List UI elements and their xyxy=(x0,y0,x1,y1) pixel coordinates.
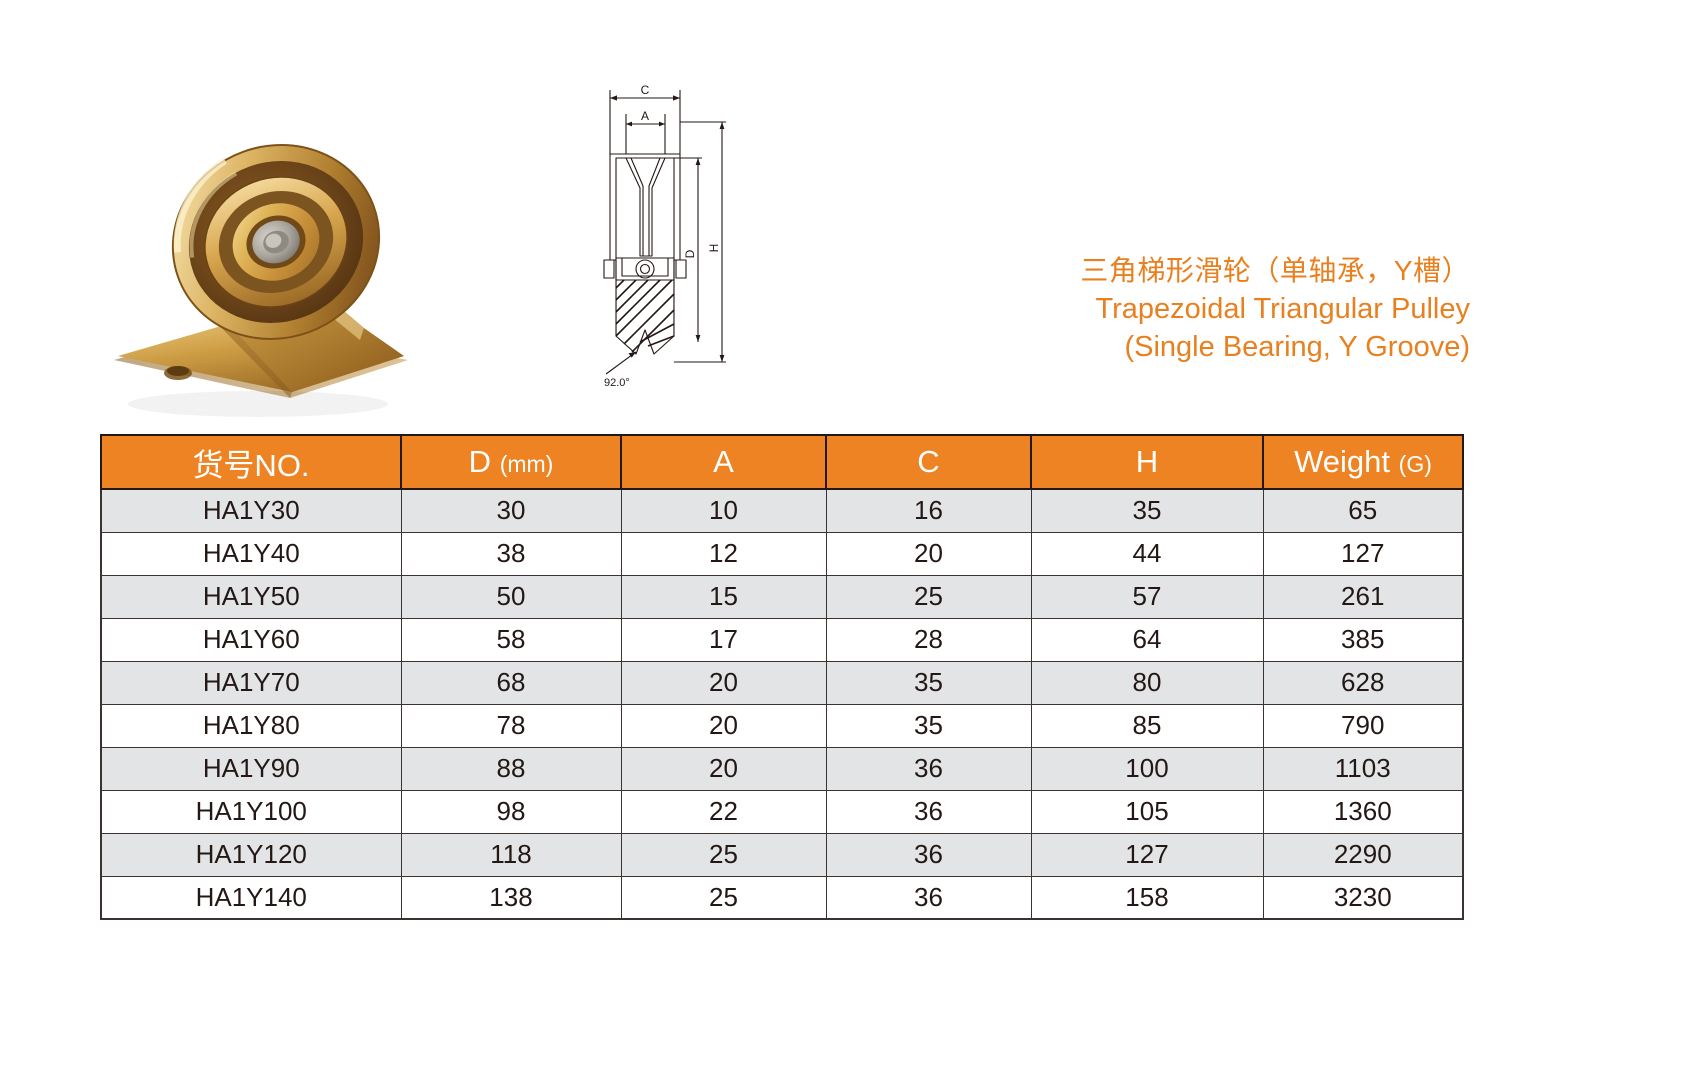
table-header-row: 货号NO. D (mm) A C H Weight (G) xyxy=(101,435,1463,489)
cell-dimension-h: 44 xyxy=(1031,532,1263,575)
cell-weight: 3230 xyxy=(1263,876,1463,919)
table-row: HA1Y14013825361583230 xyxy=(101,876,1463,919)
table-row: HA1Y6058172864385 xyxy=(101,618,1463,661)
cell-weight: 1360 xyxy=(1263,790,1463,833)
cell-dimension-h: 35 xyxy=(1031,489,1263,532)
cell-part-number: HA1Y120 xyxy=(101,833,401,876)
column-header-part-number: 货号NO. xyxy=(101,435,401,489)
cell-weight: 261 xyxy=(1263,575,1463,618)
column-header-unit: (G) xyxy=(1399,451,1432,477)
cell-dimension-a: 20 xyxy=(621,661,826,704)
table-header: 货号NO. D (mm) A C H Weight (G) xyxy=(101,435,1463,489)
specification-table-container: 货号NO. D (mm) A C H Weight (G) xyxy=(100,434,1462,920)
table-row: HA1Y4038122044127 xyxy=(101,532,1463,575)
table-body: HA1Y303010163565HA1Y4038122044127HA1Y505… xyxy=(101,489,1463,919)
cell-dimension-a: 25 xyxy=(621,833,826,876)
cell-part-number: HA1Y100 xyxy=(101,790,401,833)
cell-dimension-c: 36 xyxy=(826,876,1031,919)
cell-dimension-d: 38 xyxy=(401,532,621,575)
cell-part-number: HA1Y30 xyxy=(101,489,401,532)
product-title-english: Trapezoidal Triangular Pulley xyxy=(930,290,1470,328)
cell-part-number: HA1Y50 xyxy=(101,575,401,618)
cell-dimension-d: 78 xyxy=(401,704,621,747)
drawing-label-h: H xyxy=(707,244,721,253)
cell-dimension-d: 98 xyxy=(401,790,621,833)
cross-section-diagram: C A D H 92.0° xyxy=(570,62,770,402)
column-header-label: 货号NO. xyxy=(192,448,309,483)
cell-dimension-d: 88 xyxy=(401,747,621,790)
column-header-label: Weight xyxy=(1294,444,1390,479)
table-row: HA1Y8078203585790 xyxy=(101,704,1463,747)
column-header-label: H xyxy=(1136,444,1158,479)
column-header-weight: Weight (G) xyxy=(1263,435,1463,489)
cell-dimension-d: 68 xyxy=(401,661,621,704)
cell-weight: 2290 xyxy=(1263,833,1463,876)
cell-dimension-d: 50 xyxy=(401,575,621,618)
cell-dimension-h: 127 xyxy=(1031,833,1263,876)
cell-dimension-c: 35 xyxy=(826,704,1031,747)
cell-part-number: HA1Y70 xyxy=(101,661,401,704)
cell-dimension-d: 30 xyxy=(401,489,621,532)
cell-dimension-a: 20 xyxy=(621,704,826,747)
table-row: HA1Y7068203580628 xyxy=(101,661,1463,704)
cell-part-number: HA1Y60 xyxy=(101,618,401,661)
specification-table: 货号NO. D (mm) A C H Weight (G) xyxy=(100,434,1464,920)
cell-dimension-c: 25 xyxy=(826,575,1031,618)
cell-dimension-h: 57 xyxy=(1031,575,1263,618)
technical-drawing: C A D H 92.0° xyxy=(570,62,770,402)
product-photo xyxy=(108,60,438,420)
drawing-label-d: D xyxy=(683,249,697,258)
column-header-unit: (mm) xyxy=(500,451,554,477)
cell-dimension-c: 36 xyxy=(826,747,1031,790)
cell-dimension-d: 58 xyxy=(401,618,621,661)
cell-part-number: HA1Y90 xyxy=(101,747,401,790)
cell-dimension-d: 118 xyxy=(401,833,621,876)
product-title-block: 三角梯形滑轮（单轴承，Y槽） Trapezoidal Triangular Pu… xyxy=(930,252,1470,366)
column-header-label: D xyxy=(469,444,491,479)
cell-dimension-c: 35 xyxy=(826,661,1031,704)
drawing-label-a: A xyxy=(641,109,649,123)
cell-weight: 127 xyxy=(1263,532,1463,575)
cell-dimension-d: 138 xyxy=(401,876,621,919)
product-title-chinese: 三角梯形滑轮（单轴承，Y槽） xyxy=(930,252,1470,290)
pulley-photo-illustration xyxy=(108,60,438,420)
cell-dimension-h: 158 xyxy=(1031,876,1263,919)
drawing-label-c: C xyxy=(641,83,650,97)
cell-dimension-a: 15 xyxy=(621,575,826,618)
product-spec-sheet: C A D H 92.0° 三角梯形滑轮（单轴承，Y槽） Trapezoidal… xyxy=(0,0,1702,1072)
column-header-h: H xyxy=(1031,435,1263,489)
table-row: HA1Y908820361001103 xyxy=(101,747,1463,790)
column-header-label: A xyxy=(713,444,734,479)
column-header-d: D (mm) xyxy=(401,435,621,489)
cell-dimension-h: 105 xyxy=(1031,790,1263,833)
cell-weight: 790 xyxy=(1263,704,1463,747)
cell-dimension-c: 36 xyxy=(826,833,1031,876)
table-row: HA1Y1009822361051360 xyxy=(101,790,1463,833)
column-header-c: C xyxy=(826,435,1031,489)
cell-part-number: HA1Y140 xyxy=(101,876,401,919)
cell-dimension-a: 12 xyxy=(621,532,826,575)
table-row: HA1Y303010163565 xyxy=(101,489,1463,532)
cell-dimension-a: 17 xyxy=(621,618,826,661)
cell-part-number: HA1Y80 xyxy=(101,704,401,747)
cell-dimension-c: 20 xyxy=(826,532,1031,575)
cell-weight: 65 xyxy=(1263,489,1463,532)
cell-dimension-a: 20 xyxy=(621,747,826,790)
column-header-label: C xyxy=(917,444,939,479)
product-title-subtitle: (Single Bearing, Y Groove) xyxy=(930,328,1470,366)
table-row: HA1Y12011825361272290 xyxy=(101,833,1463,876)
cell-dimension-h: 64 xyxy=(1031,618,1263,661)
cell-dimension-a: 22 xyxy=(621,790,826,833)
cell-dimension-c: 36 xyxy=(826,790,1031,833)
cell-weight: 385 xyxy=(1263,618,1463,661)
cell-dimension-h: 85 xyxy=(1031,704,1263,747)
cell-dimension-h: 100 xyxy=(1031,747,1263,790)
cell-dimension-c: 16 xyxy=(826,489,1031,532)
drawing-angle-label: 92.0° xyxy=(604,377,630,389)
cell-part-number: HA1Y40 xyxy=(101,532,401,575)
column-header-a: A xyxy=(621,435,826,489)
table-row: HA1Y5050152557261 xyxy=(101,575,1463,618)
cell-weight: 1103 xyxy=(1263,747,1463,790)
cell-dimension-a: 10 xyxy=(621,489,826,532)
cell-dimension-h: 80 xyxy=(1031,661,1263,704)
cell-weight: 628 xyxy=(1263,661,1463,704)
cell-dimension-a: 25 xyxy=(621,876,826,919)
cell-dimension-c: 28 xyxy=(826,618,1031,661)
